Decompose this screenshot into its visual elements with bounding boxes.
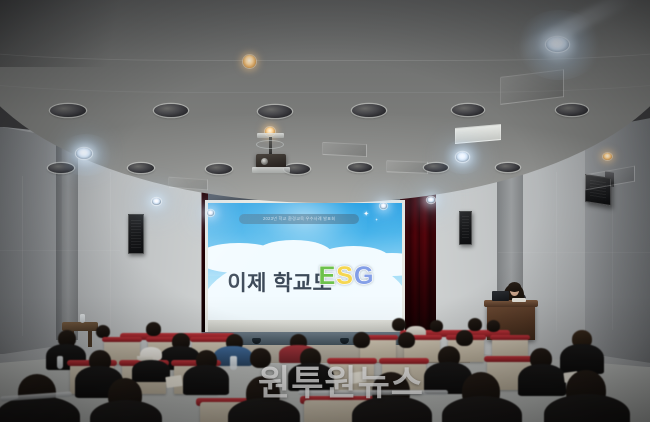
audience-head (456, 330, 473, 346)
audience-head (392, 318, 406, 331)
ceiling-downlight-lit (546, 37, 569, 52)
projector-base-plate (252, 167, 290, 173)
lectern-top (484, 300, 538, 307)
ceiling-downlight-lit (76, 148, 92, 159)
esg-letter-e: E (319, 265, 336, 289)
seat-top-rail (102, 337, 142, 342)
aisle-handrail (298, 390, 448, 395)
ceiling-downlight-lit (427, 197, 435, 203)
ceiling-vent (322, 142, 367, 157)
wall-loudspeaker-mid (459, 211, 472, 245)
audience-head (468, 318, 482, 331)
ceiling-downlight (258, 105, 292, 118)
audience-head (250, 348, 271, 368)
ceiling-downlight (352, 104, 386, 117)
wall-seam (22, 176, 23, 336)
audience-shoulders (183, 365, 229, 395)
ceiling-downlight-lit (456, 152, 469, 162)
water-bottle (80, 314, 85, 323)
ceiling-downlight (50, 104, 86, 117)
audience-head (430, 320, 443, 332)
seat-top-rail (484, 356, 534, 362)
wall-seam (498, 252, 650, 253)
ceiling-downlight-lit-warm (603, 153, 612, 160)
projection-screen: 2023년 학교 환경교육 우수사례 발표회 ✦ ✦ 이제 학교도 E S G (205, 200, 405, 332)
ceiling-downlight-lit-warm (243, 55, 256, 68)
ceiling-downlight (48, 163, 74, 173)
speaker-grill (131, 220, 141, 247)
audience-shoulders (518, 364, 566, 396)
audience-shoulders (132, 360, 170, 382)
wall-seam (0, 250, 120, 251)
slide-esg-logo: E S G (319, 265, 374, 289)
ceiling-downlight (424, 163, 448, 172)
wall-seam (110, 172, 111, 338)
slide-surface: 2023년 학교 환경교육 우수사례 발표회 ✦ ✦ 이제 학교도 E S G (208, 203, 402, 320)
wall-loudspeaker-left (128, 214, 144, 254)
water-bottle (230, 356, 237, 370)
wall-seam (612, 180, 613, 330)
ceiling-downlight (452, 104, 484, 116)
presenter-hair (508, 282, 521, 292)
laptop (492, 291, 509, 301)
auditorium-photo: 2023년 학교 환경교육 우수사례 발표회 ✦ ✦ 이제 학교도 E S G (0, 0, 650, 422)
projector-lens-icon (261, 158, 268, 165)
slide-banner: 2023년 학교 환경교육 우수사례 발표회 (239, 214, 359, 225)
esg-letter-s: S (336, 265, 353, 289)
slide-sparkle-icon-small: ✦ (375, 218, 378, 222)
water-bottle (57, 356, 63, 369)
left-wall-pilaster (0, 127, 62, 355)
handout-paper (165, 375, 182, 388)
esg-letter-g: G (354, 265, 373, 289)
side-table-leg (88, 331, 92, 347)
ceiling-vent (386, 160, 428, 173)
ceiling-downlight (348, 163, 372, 172)
seat-top-rail (490, 335, 530, 340)
audience-head (353, 332, 370, 348)
audience-shoulders (288, 363, 334, 391)
audience-head (398, 332, 415, 348)
ceiling-downlight (128, 163, 154, 173)
curtain-right-shade (400, 184, 436, 332)
ceiling-downlight-lit (380, 203, 387, 209)
ceiling-downlight (206, 164, 232, 174)
right-wall-pilaster (585, 118, 650, 363)
seat-top-rail (190, 337, 230, 342)
ceiling-downlight-lit (152, 198, 161, 205)
ceiling-downlight (496, 163, 520, 172)
ceiling-downlight-lit (207, 210, 214, 216)
lectern-papers (512, 298, 526, 302)
handout-paper (349, 371, 366, 384)
seat-top-rail (327, 358, 377, 364)
curtain-right (400, 184, 436, 332)
slide-sparkle-icon: ✦ (363, 211, 369, 218)
audience-head (487, 320, 500, 332)
ceiling-downlight (154, 104, 188, 117)
projector-mount-ring (256, 140, 284, 149)
seat-top-rail (379, 358, 429, 364)
ceiling-downlight (556, 104, 588, 116)
speaker-grill (462, 216, 470, 239)
slide-banner-text: 2023년 학교 환경교육 우수사례 발표회 (263, 216, 335, 222)
audience-head (146, 322, 161, 336)
slide-headline: 이제 학교도 (227, 267, 332, 297)
screen-bottom-bar (208, 320, 402, 332)
